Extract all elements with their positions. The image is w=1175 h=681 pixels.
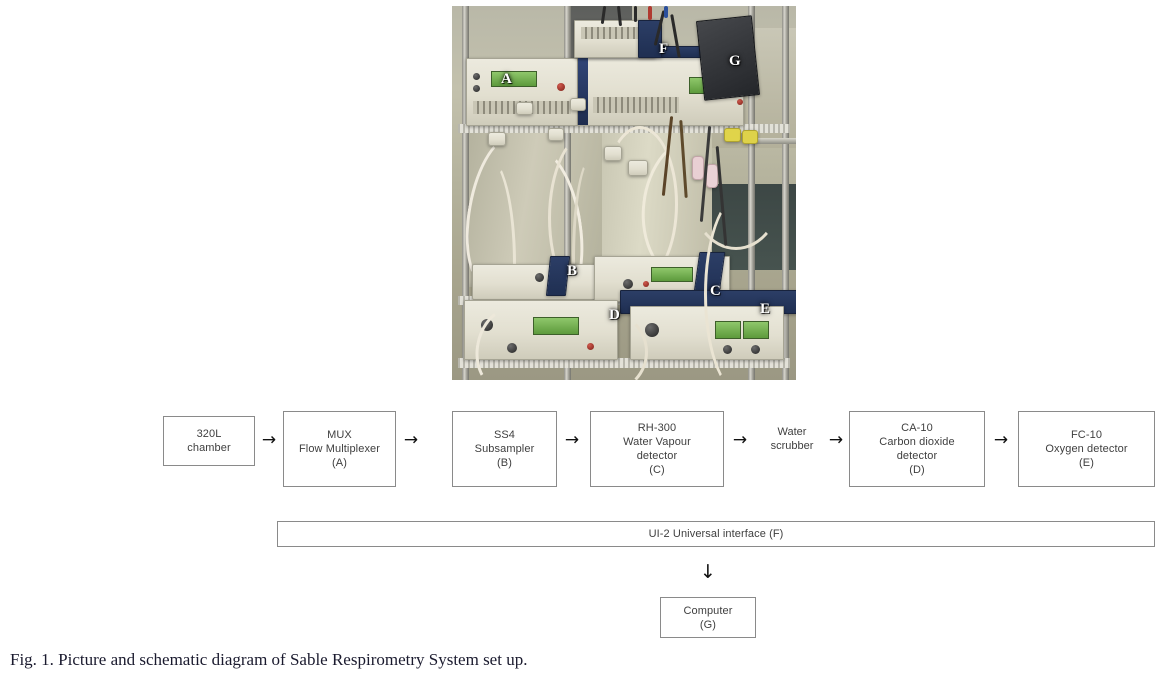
photo-scene: A B C D E F G bbox=[452, 6, 796, 380]
flow-box-rh300-line-1: RH-300 bbox=[623, 421, 691, 435]
flow-box-computer-line-2: (G) bbox=[683, 618, 732, 632]
flow-box-chamber-line-1: 320L bbox=[187, 427, 231, 441]
flow-box-mux-line-2: Flow Multiplexer bbox=[299, 442, 380, 456]
flow-box-ca10-line-2: Carbon dioxide bbox=[879, 435, 954, 449]
flow-box-fc10-line-2: Oxygen detector bbox=[1045, 442, 1127, 456]
flow-box-fc10: FC-10 Oxygen detector (E) bbox=[1018, 411, 1155, 487]
photo-fitting-5 bbox=[570, 98, 586, 111]
flow-arrow-6: → bbox=[991, 432, 1011, 449]
respirometry-system-photo: A B C D E F G bbox=[452, 6, 796, 380]
flow-box-mux-line-1: MUX bbox=[299, 428, 380, 442]
photo-label-e-fc10: E bbox=[760, 302, 770, 317]
flow-box-ca10-line-4: (D) bbox=[879, 463, 954, 477]
photo-fb8-side-stripe bbox=[578, 54, 588, 125]
photo-mux-display bbox=[491, 71, 537, 87]
flow-box-ca10-line-1: CA-10 bbox=[879, 421, 954, 435]
flow-arrow-3: → bbox=[562, 432, 582, 449]
flow-box-rh300: RH-300 Water Vapour detector (C) bbox=[590, 411, 724, 487]
photo-label-c-rh300: C bbox=[710, 284, 721, 299]
photo-label-a-mux: A bbox=[501, 72, 512, 87]
photo-mux-knob-2 bbox=[473, 85, 480, 92]
photo-label-b-ss4: B bbox=[567, 264, 577, 279]
photo-instrument-mux bbox=[466, 58, 578, 126]
flow-label-water-scrubber: Water scrubber bbox=[752, 425, 832, 453]
photo-fitting-2 bbox=[548, 128, 564, 141]
flow-box-chamber-line-2: chamber bbox=[187, 441, 231, 455]
flow-box-rh300-line-3: detector bbox=[623, 449, 691, 463]
flow-arrow-down-to-computer: ↓ bbox=[698, 563, 718, 582]
photo-label-f-ui2: F bbox=[659, 42, 668, 57]
flow-box-chamber: 320L chamber bbox=[163, 416, 255, 466]
photo-fitting-yellow-2 bbox=[742, 130, 758, 144]
interface-bar-ui2: UI-2 Universal interface (F) bbox=[277, 521, 1155, 547]
flow-box-computer-line-1: Computer bbox=[683, 604, 732, 618]
flow-arrow-5: → bbox=[826, 432, 846, 449]
flow-label-water-scrubber-line-1: Water bbox=[752, 425, 832, 439]
flow-arrow-4: → bbox=[730, 432, 750, 449]
photo-fitting-3 bbox=[604, 146, 622, 161]
photo-mux-indicator bbox=[557, 83, 565, 91]
flow-box-ca10-line-3: detector bbox=[879, 449, 954, 463]
photo-fb8-port-row bbox=[593, 97, 679, 113]
photo-fitting-yellow-1 bbox=[724, 128, 741, 142]
flow-arrow-2: → bbox=[401, 432, 421, 449]
flow-box-ss4-line-1: SS4 bbox=[475, 428, 535, 442]
flow-arrow-1: → bbox=[259, 432, 279, 449]
photo-fitting-1 bbox=[488, 132, 506, 146]
flow-box-mux-line-3: (A) bbox=[299, 456, 380, 470]
photo-ui2-port-row bbox=[581, 27, 643, 39]
photo-mux-knob-1 bbox=[473, 73, 480, 80]
flow-box-computer: Computer (G) bbox=[660, 597, 756, 638]
flow-box-mux: MUX Flow Multiplexer (A) bbox=[283, 411, 396, 487]
photo-rh300-indicator bbox=[643, 281, 649, 287]
photo-fb8-indicator bbox=[737, 99, 743, 105]
flow-label-water-scrubber-line-2: scrubber bbox=[752, 439, 832, 453]
photo-fitting-4 bbox=[628, 160, 648, 176]
interface-bar-ui2-label: UI-2 Universal interface (F) bbox=[649, 527, 784, 541]
photo-ss4-knob-1 bbox=[535, 273, 544, 282]
photo-rh300-display bbox=[651, 267, 693, 282]
flow-box-rh300-line-4: (C) bbox=[623, 463, 691, 477]
photo-label-g-computer: G bbox=[729, 54, 741, 69]
flow-box-fc10-line-3: (E) bbox=[1045, 456, 1127, 470]
photo-fitting-pink-1 bbox=[692, 156, 704, 180]
photo-fitting-pink-2 bbox=[706, 164, 718, 188]
photo-wire-3 bbox=[634, 6, 637, 22]
photo-label-d-ca10: D bbox=[609, 308, 620, 323]
flow-box-ss4-line-2: Subsampler bbox=[475, 442, 535, 456]
flow-box-rh300-line-2: Water Vapour bbox=[623, 435, 691, 449]
flow-box-ss4-line-3: (B) bbox=[475, 456, 535, 470]
photo-rh300-knob-1 bbox=[623, 279, 633, 289]
photo-instrument-ss4 bbox=[472, 264, 604, 300]
photo-wire-blue bbox=[664, 6, 668, 18]
flow-box-ss4: SS4 Subsampler (B) bbox=[452, 411, 557, 487]
photo-instrument-laptop bbox=[696, 15, 760, 100]
photo-fitting-6 bbox=[516, 102, 533, 115]
photo-wire-red bbox=[648, 6, 652, 20]
flow-box-ca10: CA-10 Carbon dioxide detector (D) bbox=[849, 411, 985, 487]
flow-box-fc10-line-1: FC-10 bbox=[1045, 428, 1127, 442]
figure-caption: Fig. 1. Picture and schematic diagram of… bbox=[10, 650, 527, 670]
